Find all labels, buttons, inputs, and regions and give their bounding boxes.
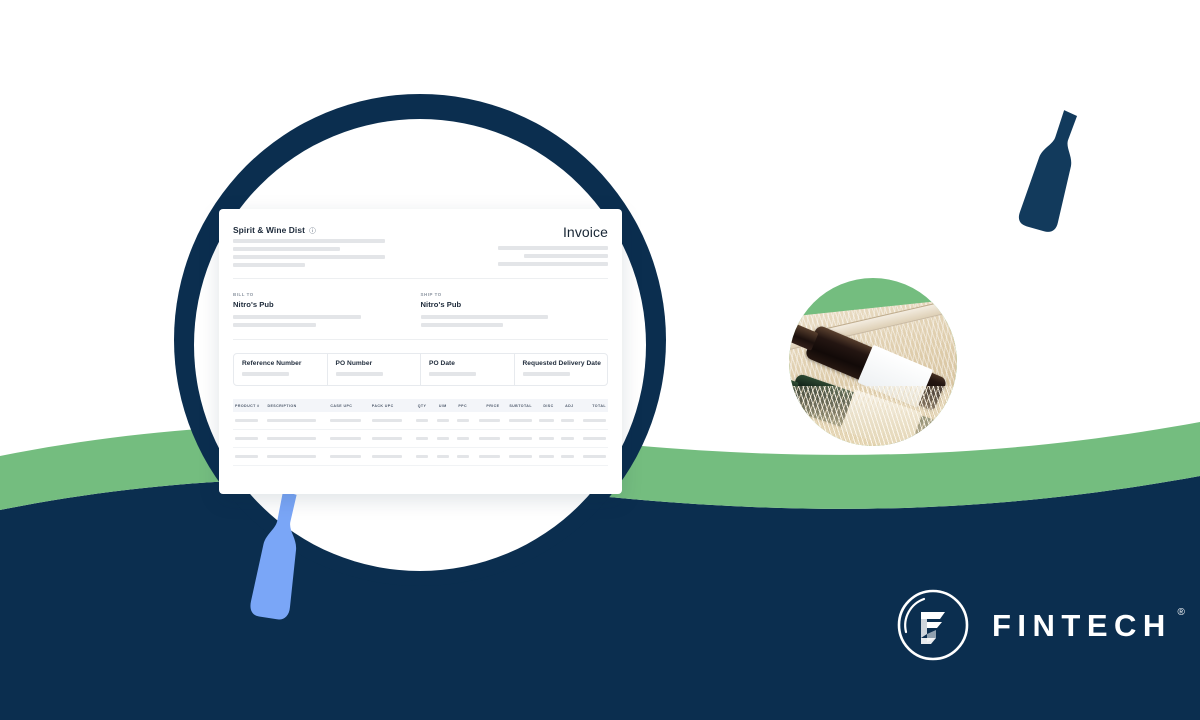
cell-subtotal: [502, 437, 534, 441]
table-row[interactable]: [233, 430, 608, 448]
info-circle-icon[interactable]: [309, 227, 316, 234]
requested-delivery-date-label: Requested Delivery Date: [523, 360, 608, 367]
invoice-header: Spirit & Wine Dist Invoice: [233, 225, 608, 267]
invoice-card: Spirit & Wine Dist Invoice: [219, 209, 622, 494]
cell-total: [576, 437, 608, 441]
reference-fields-box: Reference Number PO Number PO Date Reque…: [233, 353, 608, 386]
company-skeleton-line: [233, 263, 305, 267]
cell-case-upc: [328, 437, 369, 441]
column-header-um[interactable]: U/M: [433, 404, 453, 408]
cell-case-upc: [328, 455, 369, 459]
requested-delivery-date-field[interactable]: Requested Delivery Date: [515, 354, 608, 385]
column-header-total[interactable]: TOTAL: [576, 404, 608, 408]
ship-to-skeleton-line: [421, 315, 549, 319]
po-date-field[interactable]: PO Date: [421, 354, 515, 385]
cell-total: [576, 419, 608, 423]
cell-ppc: [453, 455, 473, 459]
requested-delivery-date-value-skeleton: [523, 372, 570, 376]
ship-to-label: SHIP TO: [421, 292, 609, 297]
cell-um: [433, 455, 453, 459]
cell-disc: [534, 419, 556, 423]
straw-foreground: [789, 386, 957, 446]
bill-to-skeleton-line: [233, 323, 316, 327]
header-divider: [233, 278, 608, 279]
column-header-case-upc[interactable]: CASE UPC: [328, 404, 369, 408]
cell-pack-upc: [370, 437, 411, 441]
cell-product: [233, 455, 265, 459]
cell-ppc: [453, 437, 473, 441]
photo-inner: [789, 278, 957, 446]
cell-disc: [534, 455, 556, 459]
line-items-table: PRODUCT # DESCRIPTION CASE UPC PACK UPC …: [233, 399, 608, 466]
company-skeleton-line: [233, 255, 385, 259]
invoice-title-block: Invoice: [481, 225, 609, 266]
bill-to-skeleton-line: [233, 315, 361, 319]
cell-adj: [556, 455, 576, 459]
po-number-value-skeleton: [336, 372, 383, 376]
bottle-silhouette-blue: [243, 489, 317, 621]
reference-number-field[interactable]: Reference Number: [234, 354, 328, 385]
column-header-ppc[interactable]: PPC: [453, 404, 473, 408]
fintech-wordmark-text: FINTECH: [992, 608, 1172, 643]
parties-divider: [233, 339, 608, 340]
column-header-subtotal[interactable]: SUBTOTAL: [502, 404, 534, 408]
column-header-product[interactable]: PRODUCT #: [233, 404, 265, 408]
cell-description: [265, 419, 328, 423]
invoice-company-block: Spirit & Wine Dist: [233, 225, 406, 267]
cell-description: [265, 455, 328, 459]
bill-to-block: BILL TO Nitro's Pub: [233, 292, 421, 327]
bill-to-name: Nitro's Pub: [233, 300, 421, 309]
cell-um: [433, 437, 453, 441]
table-row[interactable]: [233, 448, 608, 466]
po-number-field[interactable]: PO Number: [328, 354, 422, 385]
cell-case-upc: [328, 419, 369, 423]
cell-adj: [556, 437, 576, 441]
cell-subtotal: [502, 419, 534, 423]
ship-to-name: Nitro's Pub: [421, 300, 609, 309]
invoice-meta-skeleton-line: [524, 254, 608, 258]
cell-qty: [411, 455, 433, 459]
cell-pack-upc: [370, 419, 411, 423]
column-header-description[interactable]: DESCRIPTION: [265, 404, 328, 408]
cell-um: [433, 419, 453, 423]
ship-to-skeleton-line: [421, 323, 504, 327]
table-header-row: PRODUCT # DESCRIPTION CASE UPC PACK UPC …: [233, 399, 608, 412]
po-date-label: PO Date: [429, 360, 514, 367]
po-date-value-skeleton: [429, 372, 476, 376]
column-header-adj[interactable]: ADJ: [556, 404, 576, 408]
registered-trademark-symbol: ®: [1177, 608, 1184, 618]
cell-product: [233, 437, 265, 441]
cell-product: [233, 419, 265, 423]
company-skeleton-line: [233, 239, 385, 243]
cell-pack-upc: [370, 455, 411, 459]
invoice-company-name: Spirit & Wine Dist: [233, 225, 305, 235]
cell-price: [473, 437, 502, 441]
po-number-label: PO Number: [336, 360, 421, 367]
cell-disc: [534, 437, 556, 441]
cell-price: [473, 455, 502, 459]
bill-to-label: BILL TO: [233, 292, 421, 297]
wine-bottles-crate-photo: [789, 278, 957, 446]
column-header-qty[interactable]: QTY: [411, 404, 433, 408]
fintech-f-emblem: [896, 588, 970, 662]
column-header-disc[interactable]: DISC: [534, 404, 556, 408]
cell-subtotal: [502, 455, 534, 459]
cell-ppc: [453, 419, 473, 423]
invoice-company: Spirit & Wine Dist: [233, 225, 406, 235]
reference-number-label: Reference Number: [242, 360, 327, 367]
parties-section: BILL TO Nitro's Pub SHIP TO Nitro's Pub: [233, 292, 608, 327]
invoice-title: Invoice: [481, 225, 609, 239]
cell-description: [265, 437, 328, 441]
company-skeleton-line: [233, 247, 340, 251]
cell-qty: [411, 419, 433, 423]
cell-total: [576, 455, 608, 459]
cell-qty: [411, 437, 433, 441]
invoice-meta-skeleton-line: [498, 262, 608, 266]
table-row[interactable]: [233, 412, 608, 430]
ship-to-block: SHIP TO Nitro's Pub: [421, 292, 609, 327]
column-header-pack-upc[interactable]: PACK UPC: [370, 404, 411, 408]
page-canvas: Spirit & Wine Dist Invoice: [0, 0, 1200, 720]
invoice-meta-skeleton-line: [498, 246, 608, 250]
fintech-logo: FINTECH ®: [896, 588, 1172, 662]
column-header-price[interactable]: PRICE: [473, 404, 502, 408]
fintech-wordmark: FINTECH ®: [992, 610, 1172, 641]
reference-number-value-skeleton: [242, 372, 289, 376]
cell-price: [473, 419, 502, 423]
cell-adj: [556, 419, 576, 423]
bottle-silhouette-navy: [1016, 108, 1094, 234]
